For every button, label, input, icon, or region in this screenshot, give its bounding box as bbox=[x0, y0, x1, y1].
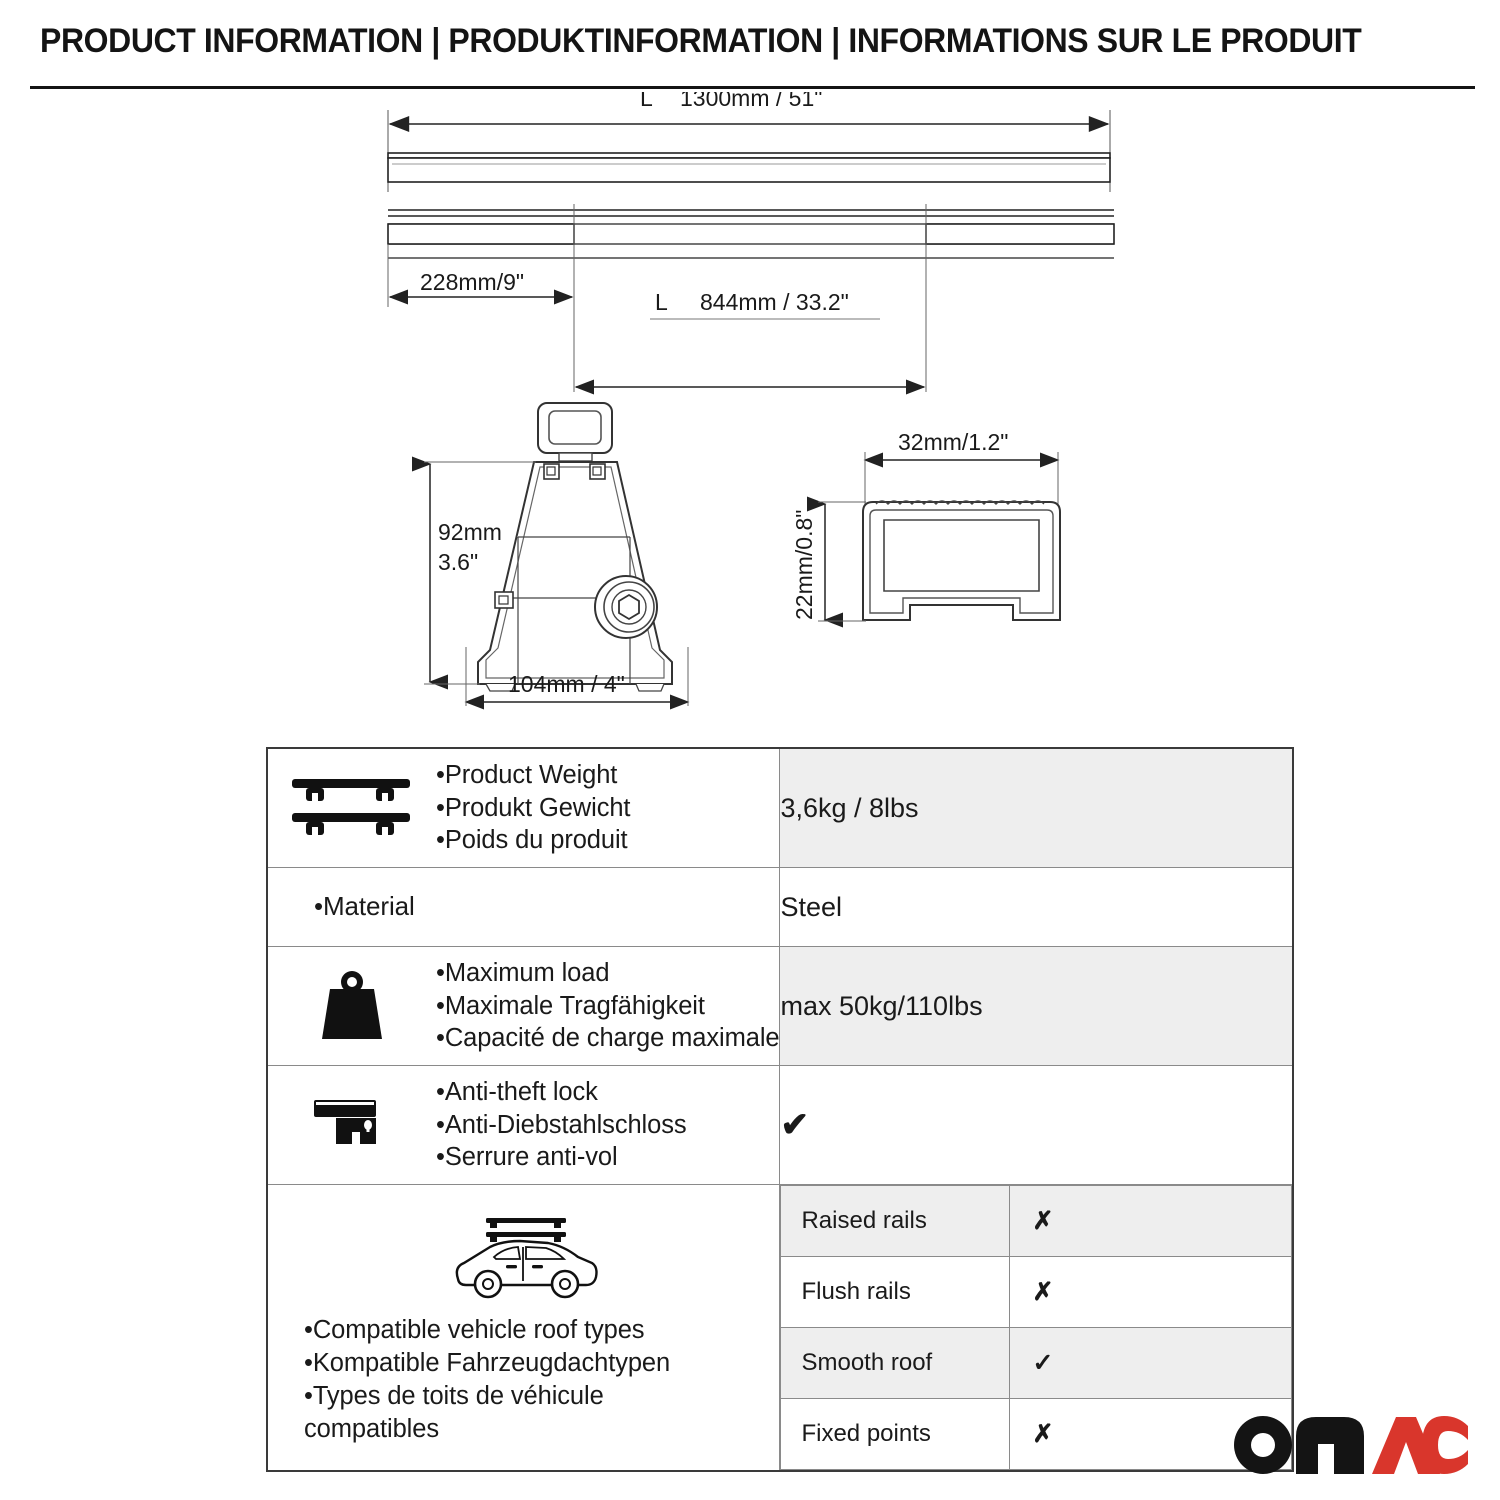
spec-label-line: •Material bbox=[314, 890, 779, 923]
roof-types-table: Raised rails ✗ Flush rails ✗ Smooth roof… bbox=[780, 1185, 1292, 1470]
table-row: •Maximum load •Maximale Tragfähigkeit •C… bbox=[267, 947, 1293, 1066]
roof-label-line: •Compatible vehicle roof types bbox=[304, 1314, 670, 1347]
spec-label-line: •Maximum load bbox=[436, 957, 779, 990]
spec-label-line: •Maximale Tragfähigkeit bbox=[436, 990, 779, 1023]
bar-length-prefix: L bbox=[640, 92, 653, 111]
roof-type-row: Smooth roof ✓ bbox=[781, 1328, 1292, 1399]
page-title: PRODUCT INFORMATION | PRODUKTINFORMATION… bbox=[40, 22, 1384, 61]
foot-span-prefix: L bbox=[655, 289, 668, 315]
spec-label-line: •Produkt Gewicht bbox=[436, 792, 630, 825]
foot-height-label-line2: 3.6" bbox=[438, 549, 478, 575]
bar-cross-section-view bbox=[863, 501, 1060, 620]
spec-label-cell-lock: •Anti-theft lock •Anti-Diebstahlschloss … bbox=[267, 1066, 780, 1185]
foot-height-label-line1: 92mm bbox=[438, 519, 502, 545]
profile-height-dimension bbox=[818, 502, 866, 621]
profile-width-label: 32mm/1.2" bbox=[898, 429, 1008, 455]
roof-type-name: Smooth roof bbox=[781, 1328, 1010, 1399]
roof-type-mark: ✓ bbox=[1010, 1328, 1292, 1399]
spec-label-line: •Anti-theft lock bbox=[436, 1076, 687, 1109]
bar-length-value: 1300mm / 51" bbox=[680, 92, 822, 111]
weight-icon bbox=[268, 967, 436, 1045]
spec-value-weight: 3,6kg / 8lbs bbox=[780, 748, 1293, 868]
roof-type-mark: ✗ bbox=[1010, 1257, 1292, 1328]
roof-type-name: Raised rails bbox=[781, 1186, 1010, 1257]
spec-label-group: •Maximum load •Maximale Tragfähigkeit •C… bbox=[436, 957, 779, 1055]
spec-label-line: •Product Weight bbox=[436, 759, 630, 792]
spec-label-line: •Capacité de charge maximale bbox=[436, 1022, 779, 1055]
profile-height-label: 22mm/0.8" bbox=[791, 510, 817, 620]
bar-side-view-group bbox=[388, 110, 1110, 192]
roof-type-mark: ✗ bbox=[1010, 1186, 1292, 1257]
lock-icon bbox=[268, 1094, 436, 1156]
roof-types-label-cell: •Compatible vehicle roof types •Kompatib… bbox=[267, 1185, 780, 1472]
spec-label-line: •Serrure anti-vol bbox=[436, 1141, 687, 1174]
header-divider bbox=[30, 86, 1475, 89]
logo-letter-c bbox=[1422, 1416, 1468, 1474]
spec-value-lock-check: ✔ bbox=[780, 1066, 1293, 1185]
spec-label-cell-max-load: •Maximum load •Maximale Tragfähigkeit •C… bbox=[267, 947, 780, 1066]
dimension-drawings-svg: L 1300mm / 51" 228mm/9" bbox=[0, 92, 1500, 742]
spec-value-material: Steel bbox=[780, 868, 1293, 947]
table-row: •Product Weight •Produkt Gewicht •Poids … bbox=[267, 748, 1293, 868]
roof-types-label-group: •Compatible vehicle roof types •Kompatib… bbox=[268, 1314, 670, 1447]
roof-type-name: Flush rails bbox=[781, 1257, 1010, 1328]
spec-label-cell-material: •Material bbox=[267, 868, 780, 947]
spec-label-line: •Anti-Diebstahlschloss bbox=[436, 1109, 687, 1142]
foot-span-value: 844mm / 33.2" bbox=[700, 289, 849, 315]
roof-type-row: Raised rails ✗ bbox=[781, 1186, 1292, 1257]
roof-label-line: •Kompatible Fahrzeugdachtypen bbox=[304, 1347, 670, 1380]
profile-width-dimension bbox=[865, 452, 1058, 504]
product-spec-table: •Product Weight •Produkt Gewicht •Poids … bbox=[266, 747, 1294, 1472]
table-row: •Compatible vehicle roof types •Kompatib… bbox=[267, 1185, 1293, 1472]
spec-label-group: •Anti-theft lock •Anti-Diebstahlschloss … bbox=[436, 1076, 687, 1174]
car-with-roof-rack-icon bbox=[444, 1213, 604, 1306]
roof-label-line: compatibles bbox=[304, 1413, 670, 1446]
roof-type-row: Fixed points ✗ bbox=[781, 1399, 1292, 1470]
crossbars-icon bbox=[268, 775, 436, 841]
roof-type-row: Flush rails ✗ bbox=[781, 1257, 1292, 1328]
omac-logo bbox=[1232, 1414, 1470, 1476]
foot-width-label: 104mm / 4" bbox=[508, 671, 625, 697]
technical-drawing-area: L 1300mm / 51" 228mm/9" bbox=[0, 92, 1500, 742]
roof-types-value-cell: Raised rails ✗ Flush rails ✗ Smooth roof… bbox=[780, 1185, 1293, 1472]
spec-label-group: •Product Weight •Produkt Gewicht •Poids … bbox=[436, 759, 630, 857]
spec-label-line: •Poids du produit bbox=[436, 824, 630, 857]
spec-value-max-load: max 50kg/110lbs bbox=[780, 947, 1293, 1066]
mount-foot-front-view bbox=[478, 403, 672, 691]
table-row: •Anti-theft lock •Anti-Diebstahlschloss … bbox=[267, 1066, 1293, 1185]
hex-socket-icon bbox=[619, 595, 639, 619]
foot-offset-label: 228mm/9" bbox=[420, 269, 524, 295]
roof-label-line: •Types de toits de véhicule bbox=[304, 1380, 670, 1413]
spec-label-cell-weight: •Product Weight •Produkt Gewicht •Poids … bbox=[267, 748, 780, 868]
roof-type-name: Fixed points bbox=[781, 1399, 1010, 1470]
table-row: •Material Steel bbox=[267, 868, 1293, 947]
page-header: PRODUCT INFORMATION | PRODUKTINFORMATION… bbox=[0, 0, 1500, 92]
